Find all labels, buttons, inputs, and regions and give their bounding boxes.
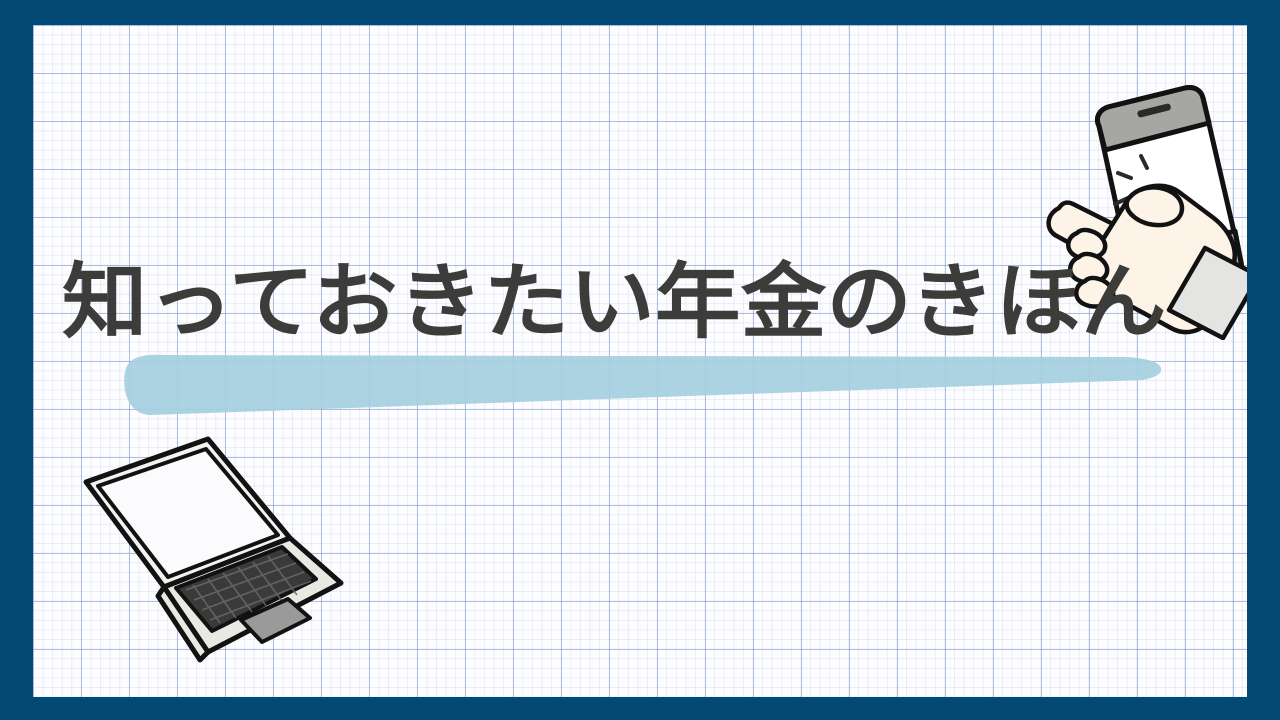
- laptop-illustration: [60, 420, 350, 680]
- page-title: 知っておきたい年金のきほん: [62, 248, 1227, 358]
- index-finger: [1127, 187, 1182, 225]
- slide-canvas: 知っておきたい年金のきほん: [0, 0, 1280, 720]
- grid-paper-background: [33, 25, 1247, 697]
